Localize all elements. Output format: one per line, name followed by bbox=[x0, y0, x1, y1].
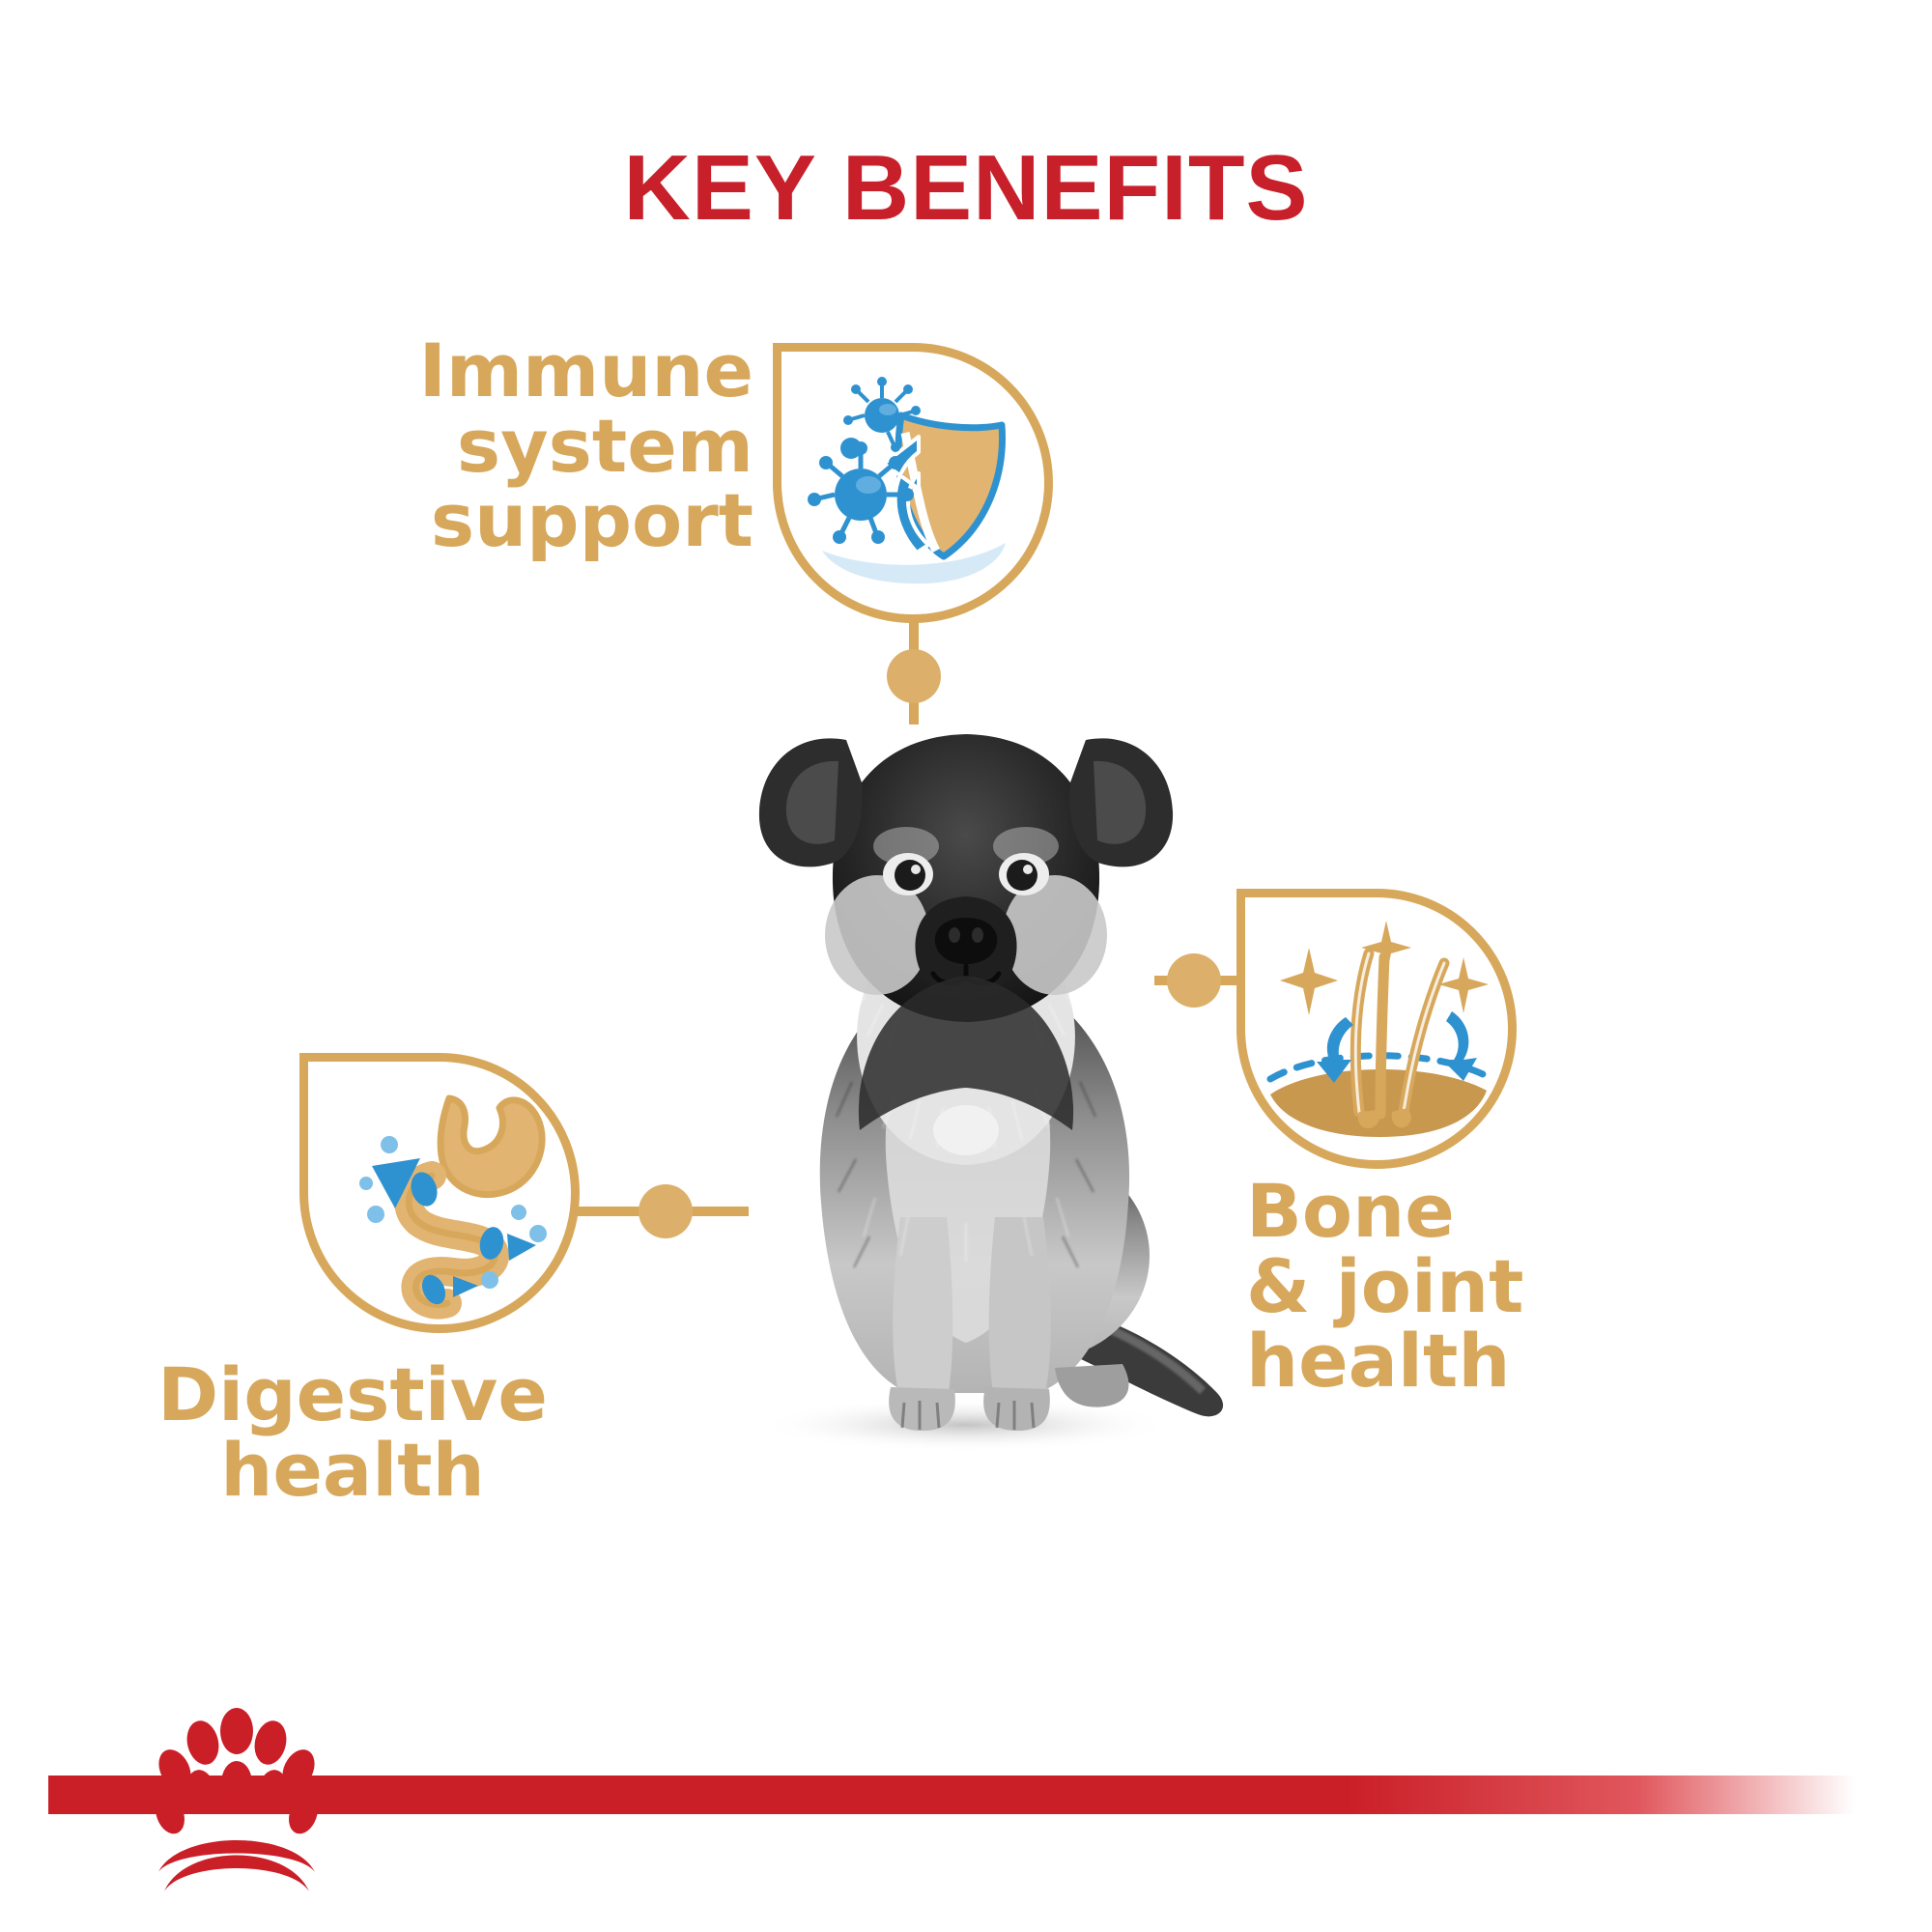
key-benefits-page: KEY BENEFITS bbox=[0, 0, 1932, 1932]
german-shepherd-puppy-photo bbox=[676, 676, 1275, 1459]
page-title: KEY BENEFITS bbox=[0, 135, 1932, 241]
royal-canin-crown-logo bbox=[135, 1702, 338, 1895]
benefit-label-immune: Immune system support bbox=[290, 333, 753, 558]
benefit-label-bone-joint: Bone & joint health bbox=[1246, 1174, 1700, 1399]
shield-virus-icon bbox=[773, 343, 1053, 623]
benefit-label-digestive: Digestive health bbox=[126, 1357, 580, 1507]
bone-joint-icon bbox=[1236, 889, 1517, 1169]
stomach-intestine-icon bbox=[299, 1053, 580, 1333]
